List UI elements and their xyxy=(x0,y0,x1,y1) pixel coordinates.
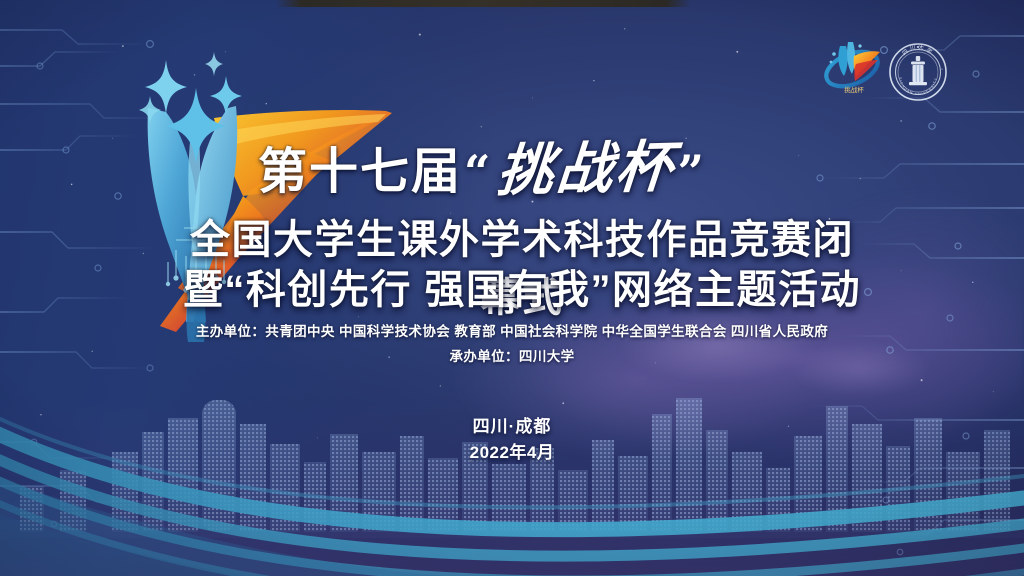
vignette-overlay xyxy=(0,0,1024,576)
poster-canvas: 挑战杯 四川大学 SICHUAN UNIVERSITY xyxy=(0,0,1024,576)
